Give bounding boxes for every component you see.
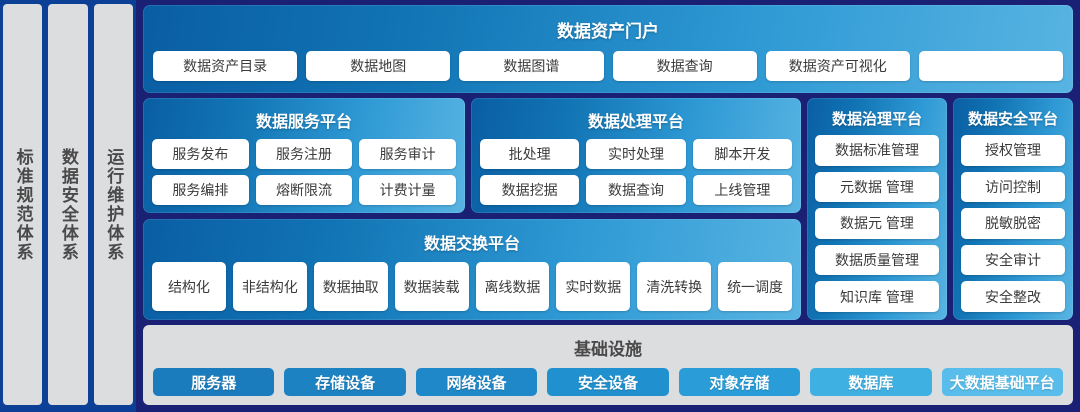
- process-chip-query[interactable]: 数据查询: [586, 175, 685, 205]
- infra-chip-security-device[interactable]: 安全设备: [547, 368, 668, 396]
- platform-left-group: 数据服务平台 服务发布 服务注册 服务审计 服务编排 熔断限流 计费计量 数据处…: [143, 98, 801, 320]
- portal-chip-row: 数据资产目录 数据地图 数据图谱 数据查询 数据资产可视化: [153, 51, 1063, 84]
- service-chip-publish[interactable]: 服务发布: [152, 139, 249, 169]
- security-platform-title: 数据安全平台: [961, 108, 1065, 129]
- sidebar-item-standards-system[interactable]: 标准规范体系: [3, 4, 42, 405]
- exchange-platform-chip-row: 结构化 非结构化 数据抽取 数据装载 离线数据 实时数据 清洗转换 统一调度: [152, 262, 792, 311]
- data-processing-platform-panel: 数据处理平台 批处理 实时处理 脚本开发 数据挖据 数据查询 上线管理: [471, 98, 801, 213]
- main-architecture-frame: 数据资产门户 数据资产目录 数据地图 数据图谱 数据查询 数据资产可视化 数据服…: [136, 0, 1080, 412]
- service-chip-register[interactable]: 服务注册: [256, 139, 353, 169]
- data-asset-portal-panel: 数据资产门户 数据资产目录 数据地图 数据图谱 数据查询 数据资产可视化: [143, 5, 1073, 93]
- portal-chip-graph[interactable]: 数据图谱: [459, 51, 603, 81]
- architecture-diagram: 标准规范体系 数据安全体系 运行维护体系 数据资产门户 数据资产目录 数据地图 …: [0, 0, 1080, 412]
- infrastructure-chip-row: 服务器 存储设备 网络设备 安全设备 对象存储 数据库 大数据基础平台: [153, 368, 1063, 396]
- portal-chip-map[interactable]: 数据地图: [306, 51, 450, 81]
- sidebar-item-operations-maintenance-system[interactable]: 运行维护体系: [94, 4, 133, 405]
- security-chip-desensitization[interactable]: 脱敏脱密: [961, 208, 1065, 239]
- governance-chip-data-quality[interactable]: 数据质量管理: [815, 245, 939, 276]
- process-chip-realtime[interactable]: 实时处理: [586, 139, 685, 169]
- platform-band: 数据服务平台 服务发布 服务注册 服务审计 服务编排 熔断限流 计费计量 数据处…: [143, 98, 1073, 320]
- side-column-label: 标准规范体系: [14, 148, 32, 262]
- service-chip-orchestration[interactable]: 服务编排: [152, 175, 249, 205]
- service-chip-circuit-breaker[interactable]: 熔断限流: [256, 175, 353, 205]
- exchange-chip-offline-data[interactable]: 离线数据: [476, 262, 550, 311]
- governance-chip-data-standard[interactable]: 数据标准管理: [815, 135, 939, 166]
- exchange-chip-unstructured[interactable]: 非结构化: [233, 262, 307, 311]
- exchange-chip-scheduling[interactable]: 统一调度: [718, 262, 792, 311]
- infra-chip-database[interactable]: 数据库: [810, 368, 931, 396]
- side-column-label: 运行维护体系: [104, 148, 122, 262]
- exchange-chip-extract[interactable]: 数据抽取: [314, 262, 388, 311]
- platform-top-row: 数据服务平台 服务发布 服务注册 服务审计 服务编排 熔断限流 计费计量 数据处…: [143, 98, 801, 213]
- data-exchange-platform-panel: 数据交换平台 结构化 非结构化 数据抽取 数据装载 离线数据 实时数据 清洗转换…: [143, 219, 801, 320]
- infra-chip-network-device[interactable]: 网络设备: [416, 368, 537, 396]
- portal-chip-catalog[interactable]: 数据资产目录: [153, 51, 297, 81]
- infrastructure-panel: 基础设施 服务器 存储设备 网络设备 安全设备 对象存储 数据库 大数据基础平台: [143, 325, 1073, 405]
- governance-chip-knowledge-base[interactable]: 知识库 管理: [815, 281, 939, 312]
- sidebar-item-data-security-system[interactable]: 数据安全体系: [48, 4, 87, 405]
- data-security-platform-panel: 数据安全平台 授权管理 访问控制 脱敏脱密 安全审计 安全整改: [953, 98, 1073, 320]
- process-platform-chip-grid: 批处理 实时处理 脚本开发 数据挖据 数据查询 上线管理: [480, 139, 792, 205]
- portal-chip-visualization[interactable]: 数据资产可视化: [766, 51, 910, 81]
- governance-platform-chip-column: 数据标准管理 元数据 管理 数据元 管理 数据质量管理 知识库 管理: [815, 135, 939, 312]
- exchange-platform-title: 数据交换平台: [152, 230, 792, 254]
- data-service-platform-panel: 数据服务平台 服务发布 服务注册 服务审计 服务编排 熔断限流 计费计量: [143, 98, 465, 213]
- exchange-chip-load[interactable]: 数据装载: [395, 262, 469, 311]
- governance-platform-title: 数据治理平台: [815, 108, 939, 129]
- exchange-chip-cleansing[interactable]: 清洗转换: [637, 262, 711, 311]
- security-chip-authorization[interactable]: 授权管理: [961, 135, 1065, 166]
- infra-chip-object-storage[interactable]: 对象存储: [679, 368, 800, 396]
- process-chip-release-mgmt[interactable]: 上线管理: [693, 175, 792, 205]
- process-platform-title: 数据处理平台: [480, 108, 792, 132]
- exchange-chip-realtime-data[interactable]: 实时数据: [556, 262, 630, 311]
- infra-chip-bigdata-platform[interactable]: 大数据基础平台: [942, 368, 1063, 396]
- infrastructure-title: 基础设施: [153, 335, 1063, 360]
- service-chip-audit[interactable]: 服务审计: [359, 139, 456, 169]
- service-platform-title: 数据服务平台: [152, 108, 456, 132]
- portal-chip-empty[interactable]: [919, 51, 1063, 81]
- service-chip-billing[interactable]: 计费计量: [359, 175, 456, 205]
- process-chip-script-dev[interactable]: 脚本开发: [693, 139, 792, 169]
- portal-chip-query[interactable]: 数据查询: [613, 51, 757, 81]
- governance-chip-data-element[interactable]: 数据元 管理: [815, 208, 939, 239]
- security-platform-chip-column: 授权管理 访问控制 脱敏脱密 安全审计 安全整改: [961, 135, 1065, 312]
- support-systems-columns: 标准规范体系 数据安全体系 运行维护体系: [0, 0, 136, 412]
- data-governance-platform-panel: 数据治理平台 数据标准管理 元数据 管理 数据元 管理 数据质量管理 知识库 管…: [807, 98, 947, 320]
- security-chip-access-control[interactable]: 访问控制: [961, 172, 1065, 203]
- service-platform-chip-grid: 服务发布 服务注册 服务审计 服务编排 熔断限流 计费计量: [152, 139, 456, 205]
- security-chip-security-audit[interactable]: 安全审计: [961, 245, 1065, 276]
- security-chip-remediation[interactable]: 安全整改: [961, 281, 1065, 312]
- process-chip-mining[interactable]: 数据挖据: [480, 175, 579, 205]
- portal-title: 数据资产门户: [153, 17, 1063, 42]
- governance-chip-metadata[interactable]: 元数据 管理: [815, 172, 939, 203]
- side-column-label: 数据安全体系: [59, 148, 77, 262]
- infra-chip-server[interactable]: 服务器: [153, 368, 274, 396]
- infra-chip-storage-device[interactable]: 存储设备: [284, 368, 405, 396]
- exchange-chip-structured[interactable]: 结构化: [152, 262, 226, 311]
- process-chip-batch[interactable]: 批处理: [480, 139, 579, 169]
